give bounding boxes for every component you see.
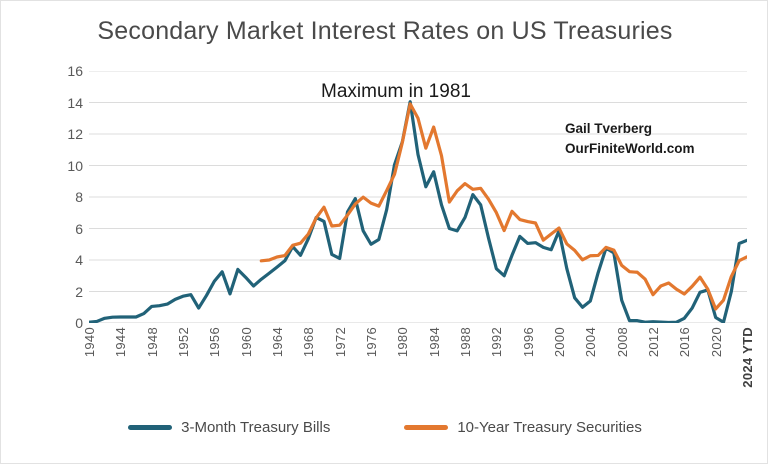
y-axis-tick: 2: [43, 284, 83, 300]
x-axis-tick: 1976: [364, 327, 379, 357]
x-axis-tick: 1960: [239, 327, 254, 357]
x-axis-tick: 1984: [427, 327, 442, 357]
attribution-author: Gail Tverberg: [565, 119, 695, 139]
x-axis-tick: 1944: [113, 327, 128, 357]
x-axis-tick: 1992: [489, 327, 504, 357]
x-axis-tick: 1996: [521, 327, 536, 357]
annotation-maximum: Maximum in 1981: [321, 81, 471, 103]
x-axis-tick: 2020: [709, 327, 724, 357]
chart-title: Secondary Market Interest Rates on US Tr…: [1, 17, 768, 46]
x-axis-tick: 1952: [176, 327, 191, 357]
legend-item-10-year-treasury-securities[interactable]: 10-Year Treasury Securities: [404, 419, 642, 436]
x-axis-tick: 2024 YTD: [740, 327, 755, 388]
x-axis-tick: 1956: [207, 327, 222, 357]
plot-area: [89, 71, 747, 323]
chart-figure: Secondary Market Interest Rates on US Tr…: [0, 0, 768, 464]
x-axis-tick: 2016: [677, 327, 692, 357]
x-axis-tick: 2012: [646, 327, 661, 357]
x-axis-tick-labels: 1940194419481952195619601964196819721976…: [89, 327, 747, 397]
legend-label: 10-Year Treasury Securities: [457, 419, 642, 436]
legend-item-3-month-treasury-bills[interactable]: 3-Month Treasury Bills: [128, 419, 330, 436]
chart-legend: 3-Month Treasury Bills 10-Year Treasury …: [1, 419, 768, 436]
legend-label: 3-Month Treasury Bills: [181, 419, 330, 436]
y-axis-tick: 14: [43, 95, 83, 111]
chart-canvas: [89, 71, 747, 323]
x-axis-tick: 1964: [270, 327, 285, 357]
y-axis-tick: 12: [43, 126, 83, 142]
y-axis-tick: 10: [43, 158, 83, 174]
x-axis-tick: 2008: [615, 327, 630, 357]
y-axis-tick: 16: [43, 63, 83, 79]
x-axis-tick: 1940: [82, 327, 97, 357]
y-axis-tick: 0: [43, 315, 83, 331]
y-axis-tick-labels: 1614121086420: [39, 71, 83, 323]
x-axis-tick: 1968: [301, 327, 316, 357]
legend-swatch-icon: [404, 425, 448, 430]
attribution-block: Gail Tverberg OurFiniteWorld.com: [565, 119, 695, 158]
x-axis-tick: 2000: [552, 327, 567, 357]
x-axis-tick: 2004: [583, 327, 598, 357]
y-axis-tick: 8: [43, 189, 83, 205]
x-axis-tick: 1988: [458, 327, 473, 357]
y-axis-tick: 6: [43, 221, 83, 237]
x-axis-tick: 1972: [333, 327, 348, 357]
y-axis-tick: 4: [43, 252, 83, 268]
x-axis-tick: 1980: [395, 327, 410, 357]
attribution-site: OurFiniteWorld.com: [565, 139, 695, 159]
legend-swatch-icon: [128, 425, 172, 430]
x-axis-tick: 1948: [145, 327, 160, 357]
